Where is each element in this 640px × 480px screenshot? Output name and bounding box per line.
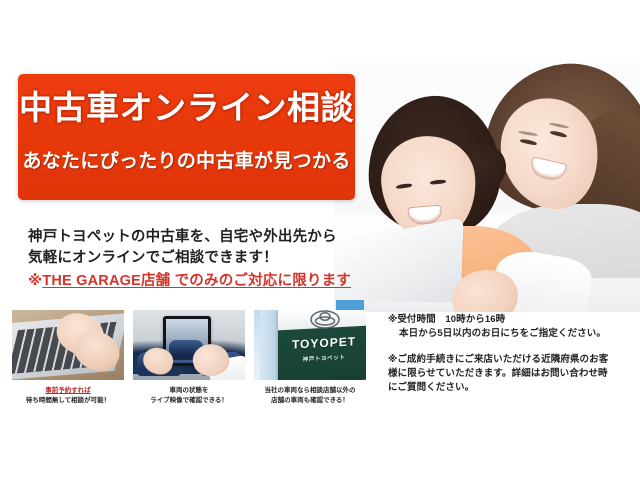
toyota-logo-icon (310, 310, 340, 329)
feature-card-other-stores: TOYOPET 神戸トヨペット 当社の車両なら相談店舗以外の 店舗の車両も確認で… (254, 310, 366, 406)
notes-section: ※受付時間 10時から16時 本日から5日以内のお日にちをご指定ください。 ※ご… (388, 313, 632, 407)
caption-line-1: 当社の車両なら相談店舗以外の (254, 386, 366, 396)
note-underlined-text: THE GARAGE店舗 でのみのご対応に限ります (42, 273, 351, 289)
thumbnail-keyboard-hands (12, 310, 124, 380)
banner-subtitle: あなたにぴったりの中古車が見つかる (18, 146, 355, 173)
note-reception-hours: ※受付時間 10時から16時 本日から5日以内のお日にちをご指定ください。 (388, 313, 632, 341)
lead-restriction-note: ※THE GARAGE店舗 でのみのご対応に限ります (28, 271, 358, 292)
lead-line-2: 気軽にオンラインでご相談できます！ (28, 248, 358, 269)
note-prefix-mark: ※ (28, 273, 42, 289)
feature-card-caption: 当社の車両なら相談店舗以外の 店舗の車両も確認できる！ (254, 386, 366, 406)
hero-photo (334, 58, 640, 312)
lead-paragraph: 神戸トヨペットの中古車を、自宅や外出先から 気軽にオンラインでご相談できます！ … (28, 227, 358, 292)
caption-line-2: ライブ映像で確認できる！ (133, 396, 245, 406)
feature-card-reservation: 事前予約すれば 待ち時間無して相談が可能！ (12, 310, 124, 406)
note-line-1: ※受付時間 10時から16時 (388, 313, 632, 327)
note-line-3: にご質問ください。 (388, 381, 632, 395)
thumbnail-toyopet-sign: TOYOPET 神戸トヨペット (254, 310, 366, 380)
caption-line-2: 待ち時間無して相談が可能！ (12, 396, 124, 406)
caption-line-1: 事前予約すれば (12, 386, 124, 396)
headline-banner: 中古車オンライン相談 あなたにぴったりの中古車が見つかる (18, 74, 355, 200)
feature-card-list: 事前予約すれば 待ち時間無して相談が可能！ 車両の状態を ライブ映像で確認できる… (12, 310, 367, 406)
note-line-2: 本日から5日以内のお日にちをご指定ください。 (388, 327, 632, 341)
caption-line-1: 車両の状態を (133, 386, 245, 396)
caption-line-2: 店舗の車両も確認できる！ (254, 396, 366, 406)
lead-line-1: 神戸トヨペットの中古車を、自宅や外出先から (28, 227, 358, 248)
note-line-1: ※ご成約手続きにご来店いただける近隣府県のお客 (388, 353, 632, 367)
feature-card-caption: 事前予約すれば 待ち時間無して相談が可能！ (12, 386, 124, 406)
thumbnail-tablet-car (133, 310, 245, 380)
thumb3-sign-pole (260, 310, 278, 380)
feature-card-caption: 車両の状態を ライブ映像で確認できる！ (133, 386, 245, 406)
promo-banner-canvas: 中古車オンライン相談 あなたにぴったりの中古車が見つかる 神戸トヨペットの中古車… (0, 0, 640, 480)
note-line-2: 様に限らせていただきます。詳細はお問い合わせ時 (388, 367, 632, 381)
banner-title: 中古車オンライン相談 (18, 86, 355, 130)
feature-card-live-video: 車両の状態を ライブ映像で確認できる！ (133, 310, 245, 406)
note-contract-area: ※ご成約手続きにご来店いただける近隣府県のお客 様に限らせていただきます。詳細は… (388, 353, 632, 395)
